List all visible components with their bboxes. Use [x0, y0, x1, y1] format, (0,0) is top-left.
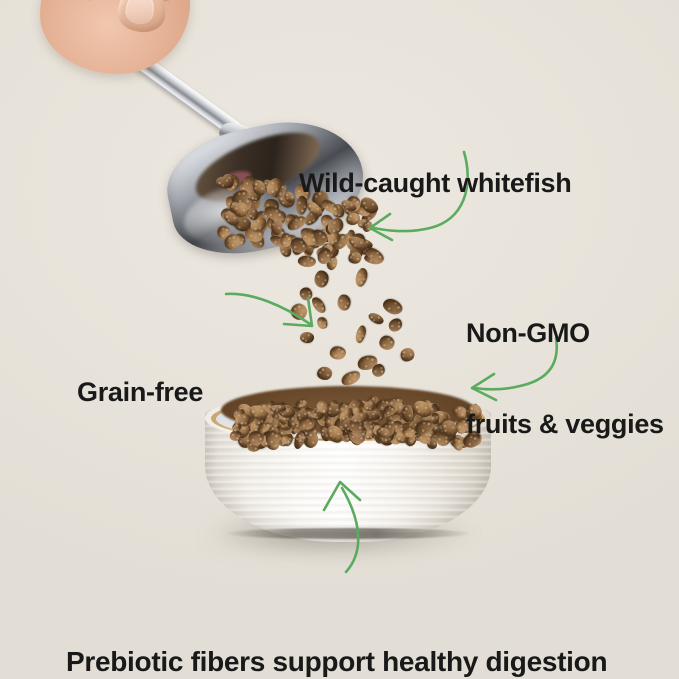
label-line: Wild-caught whitefish	[299, 168, 571, 198]
kibble-piece	[337, 294, 350, 310]
arrow-prebiotic-icon	[308, 466, 380, 576]
kibble-piece	[384, 406, 395, 416]
kibble-piece	[378, 334, 396, 351]
kibble-piece	[367, 311, 386, 327]
kibble-piece	[330, 346, 346, 360]
label-line: Grain-free	[77, 377, 203, 407]
kibble-piece	[381, 297, 405, 318]
kibble-piece	[317, 367, 332, 381]
kibble-piece	[402, 405, 413, 422]
label-line: Prebiotic fibers support healthy digesti…	[66, 646, 607, 677]
kibble-piece	[354, 325, 367, 344]
hand	[40, 0, 190, 74]
infographic-canvas: Wild-caught whitefish Non-GMO fruits & v…	[0, 0, 679, 679]
label-prebiotic-fibers: Prebiotic fibers support healthy digesti…	[66, 583, 607, 679]
label-line: fruits & veggies	[466, 409, 664, 439]
label-grain-free: Grain-free	[77, 317, 203, 468]
finger	[53, 0, 126, 8]
label-line: Non-GMO	[466, 318, 664, 348]
kibble-piece	[230, 202, 239, 213]
kibble-piece	[338, 403, 349, 412]
kibble-piece	[398, 346, 417, 365]
kibble-piece	[354, 267, 369, 288]
kibble-piece	[386, 316, 405, 335]
arrow-grain-free-icon	[222, 282, 330, 334]
label-wild-caught-whitefish: Wild-caught whitefish	[299, 108, 571, 259]
label-non-gmo-fruits-veggies: Non-GMO fruits & veggies	[466, 258, 664, 500]
